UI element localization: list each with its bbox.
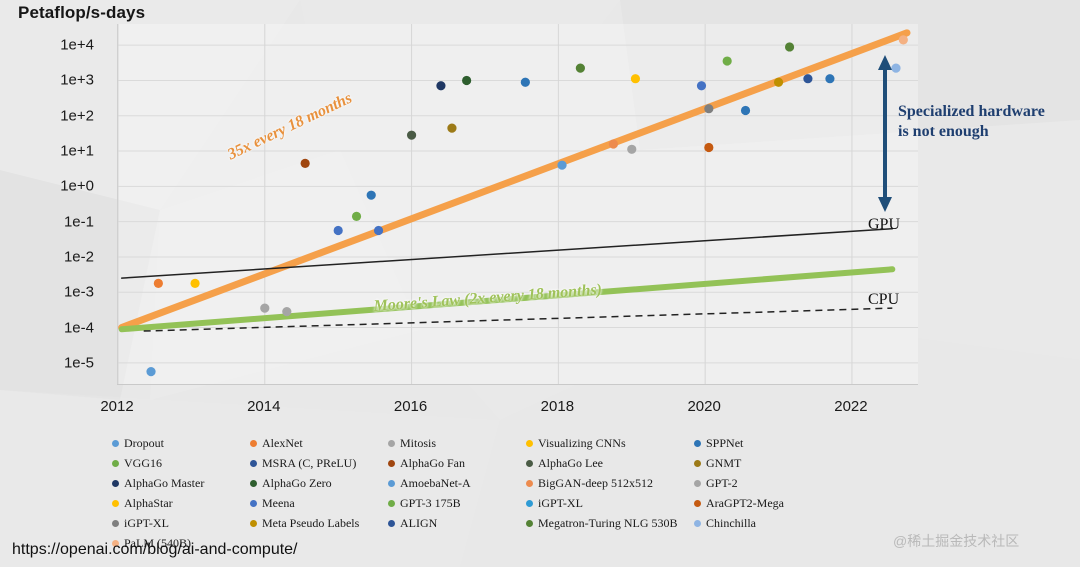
legend-label: Meena [262,496,295,511]
data-point[interactable] [260,304,269,313]
legend-item[interactable]: AlphaGo Fan [388,456,526,471]
data-point[interactable] [407,131,416,140]
legend-item[interactable]: Mitosis [388,436,526,451]
legend-item[interactable]: Visualizing CNNs [526,436,694,451]
legend-item[interactable]: AlphaGo Master [112,476,250,491]
legend-item[interactable]: iGPT-XL [112,516,250,531]
legend-row: VGG16MSRA (C, PReLU)AlphaGo FanAlphaGo L… [112,453,872,473]
legend-item[interactable]: Chinchilla [694,516,832,531]
legend-label: SPPNet [706,436,743,451]
legend-swatch-icon [694,480,701,487]
legend-swatch-icon [112,520,119,527]
legend-item[interactable]: AlphaGo Lee [526,456,694,471]
legend-item[interactable]: GNMT [694,456,832,471]
chart-legend: DropoutAlexNetMitosisVisualizing CNNsSPP… [112,433,872,553]
legend-row: AlphaGo MasterAlphaGo ZeroAmoebaNet-ABig… [112,473,872,493]
legend-label: Chinchilla [706,516,756,531]
legend-swatch-icon [388,440,395,447]
trendline-label-gpu: GPU [868,216,900,234]
legend-label: AlphaGo Lee [538,456,603,471]
legend-swatch-icon [388,460,395,467]
specialized-hardware-line1: Specialized hardware [898,103,1045,120]
specialized-hardware-line2: is not enough [898,123,989,140]
y-tick-label: 1e-3 [24,284,94,301]
legend-label: AlexNet [262,436,303,451]
y-axis-tick-labels: 1e+41e+31e+21e+11e+01e-11e-21e-31e-41e-5 [20,0,94,400]
data-point[interactable] [282,307,291,316]
data-point[interactable] [521,78,530,87]
data-point[interactable] [723,56,732,65]
y-tick-label: 1e+1 [24,143,94,160]
legend-swatch-icon [388,480,395,487]
legend-swatch-icon [250,500,257,507]
specialized-hardware-annotation: Specialized hardware is not enough [898,102,1078,142]
y-tick-label: 1e+4 [24,37,94,54]
data-point[interactable] [154,279,163,288]
legend-label: iGPT-XL [538,496,583,511]
legend-label: Dropout [124,436,164,451]
legend-item[interactable]: AlexNet [250,436,388,451]
data-point[interactable] [576,64,585,73]
data-point[interactable] [447,124,456,133]
legend-swatch-icon [112,480,119,487]
legend-label: AlphaGo Fan [400,456,465,471]
legend-swatch-icon [526,520,533,527]
watermark: @稀土掘金技术社区 [893,531,1019,551]
plot-canvas [118,24,918,384]
legend-label: GPT-2 [706,476,738,491]
data-point[interactable] [803,74,812,83]
legend-swatch-icon [694,500,701,507]
legend-item[interactable]: Meena [250,496,388,511]
legend-item[interactable]: AraGPT2-Mega [694,496,832,511]
data-point[interactable] [557,161,566,170]
gap-arrow-icon [878,55,892,212]
legend-row: iGPT-XLMeta Pseudo LabelsALIGNMegatron-T… [112,513,872,533]
data-point[interactable] [609,139,618,148]
legend-label: AraGPT2-Mega [706,496,784,511]
legend-item[interactable]: AlphaStar [112,496,250,511]
legend-label: AlphaStar [124,496,173,511]
data-point[interactable] [190,279,199,288]
legend-item[interactable]: MSRA (C, PReLU) [250,456,388,471]
legend-swatch-icon [694,440,701,447]
data-point[interactable] [891,64,900,73]
legend-item[interactable]: BigGAN-deep 512x512 [526,476,694,491]
legend-label: AmoebaNet-A [400,476,471,491]
legend-label: BigGAN-deep 512x512 [538,476,653,491]
legend-label: AlphaGo Zero [262,476,332,491]
trendline-gpu [122,229,893,278]
legend-swatch-icon [526,440,533,447]
legend-label: GNMT [706,456,741,471]
plot-area [117,24,918,385]
data-point[interactable] [825,74,834,83]
data-point[interactable] [697,81,706,90]
legend-label: Megatron-Turing NLG 530B [538,516,678,531]
x-tick-label: 2016 [394,398,427,415]
x-tick-label: 2014 [247,398,280,415]
legend-item[interactable]: AlphaGo Zero [250,476,388,491]
y-tick-label: 1e-4 [24,319,94,336]
legend-label: AlphaGo Master [124,476,204,491]
y-tick-label: 1e-5 [24,354,94,371]
data-point[interactable] [301,159,310,168]
legend-item[interactable]: SPPNet [694,436,832,451]
y-tick-label: 1e-2 [24,248,94,265]
legend-swatch-icon [694,520,701,527]
legend-swatch-icon [526,480,533,487]
y-tick-label: 1e-1 [24,213,94,230]
data-point[interactable] [704,143,713,152]
legend-swatch-icon [112,500,119,507]
legend-swatch-icon [388,500,395,507]
legend-swatch-icon [112,440,119,447]
legend-swatch-icon [388,520,395,527]
data-point[interactable] [352,212,361,221]
legend-swatch-icon [526,500,533,507]
legend-label: MSRA (C, PReLU) [262,456,356,471]
data-point[interactable] [741,106,750,115]
data-point[interactable] [436,81,445,90]
data-point[interactable] [367,191,376,200]
data-point[interactable] [704,104,713,113]
legend-label: ALIGN [400,516,437,531]
legend-swatch-icon [250,520,257,527]
y-tick-label: 1e+2 [24,107,94,124]
legend-swatch-icon [112,460,119,467]
y-tick-label: 1e+0 [24,178,94,195]
trendline-label-cpu: CPU [868,291,899,309]
legend-swatch-icon [250,460,257,467]
legend-item[interactable]: iGPT-XL [526,496,694,511]
legend-item[interactable]: ALIGN [388,516,526,531]
legend-swatch-icon [526,460,533,467]
legend-swatch-icon [250,440,257,447]
legend-item[interactable]: Megatron-Turing NLG 530B [526,516,694,531]
legend-row: AlphaStarMeenaGPT-3 175BiGPT-XLAraGPT2-M… [112,493,872,513]
data-point[interactable] [774,78,783,87]
data-point[interactable] [627,145,636,154]
legend-item[interactable]: VGG16 [112,456,250,471]
chart-figure: Petaflop/s-days 1e+41e+31e+21e+11e+01e-1… [0,0,1080,567]
legend-row: DropoutAlexNetMitosisVisualizing CNNsSPP… [112,433,872,453]
legend-label: iGPT-XL [124,516,169,531]
data-point[interactable] [374,226,383,235]
legend-item[interactable]: Dropout [112,436,250,451]
legend-swatch-icon [694,460,701,467]
data-point[interactable] [462,76,471,85]
data-point[interactable] [146,367,155,376]
data-point[interactable] [899,35,908,44]
legend-label: VGG16 [124,456,162,471]
legend-label: Mitosis [400,436,436,451]
legend-label: Visualizing CNNs [538,436,626,451]
x-tick-label: 2018 [541,398,574,415]
data-point[interactable] [631,74,640,83]
legend-item[interactable]: Meta Pseudo Labels [250,516,388,531]
source-url[interactable]: https://openai.com/blog/ai-and-compute/ [12,541,298,559]
legend-label: GPT-3 175B [400,496,461,511]
legend-label: Meta Pseudo Labels [262,516,359,531]
y-tick-label: 1e+3 [24,72,94,89]
x-tick-label: 2020 [687,398,720,415]
legend-item[interactable]: AmoebaNet-A [388,476,526,491]
data-point[interactable] [334,226,343,235]
legend-item[interactable]: GPT-3 175B [388,496,526,511]
data-point[interactable] [785,42,794,51]
x-tick-label: 2022 [834,398,867,415]
legend-swatch-icon [250,480,257,487]
legend-item[interactable]: GPT-2 [694,476,832,491]
x-tick-label: 2012 [100,398,133,415]
trendline-35x-every-18-months [122,33,907,328]
